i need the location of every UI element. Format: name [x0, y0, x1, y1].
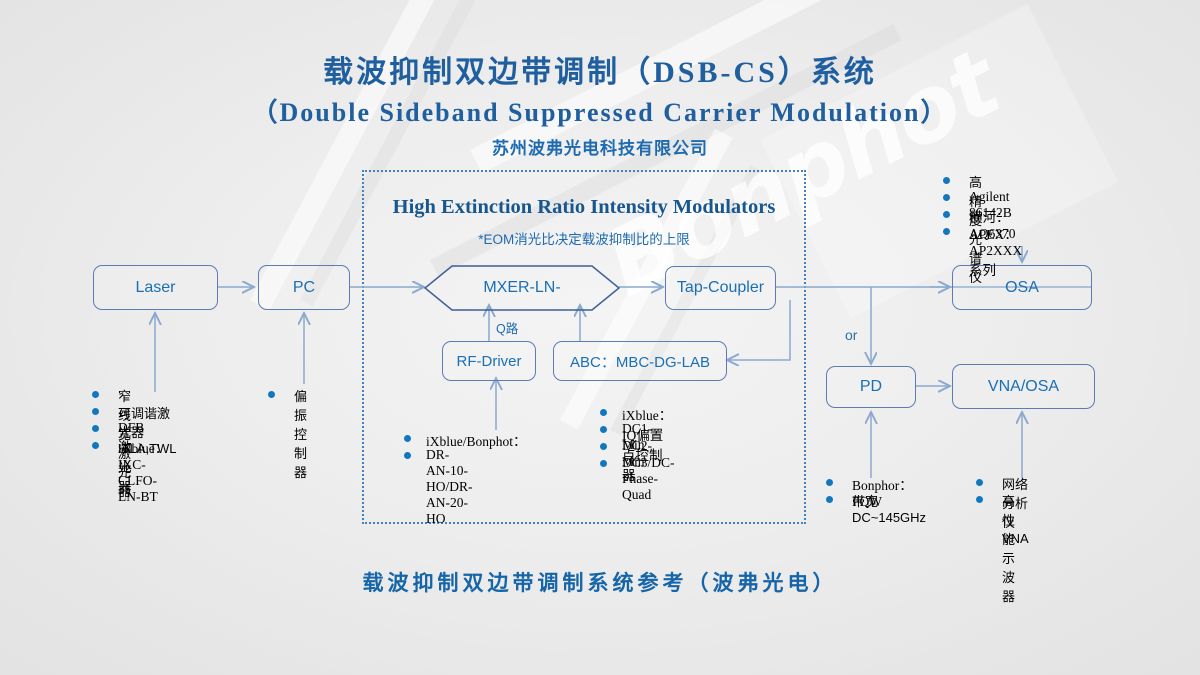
node-pd[interactable]: PD [826, 366, 916, 408]
node-rf-driver[interactable]: RF-Driver [442, 341, 536, 381]
connector-layer [0, 0, 1200, 675]
annotation-item: iXblue：IXC-CLFO-LN-BT [118, 437, 168, 505]
node-mxer[interactable]: MXER-LN- [424, 265, 620, 311]
node-laser[interactable]: Laser [93, 265, 218, 310]
annotation-item: 带宽DC~145GHz [852, 491, 926, 525]
slide-canvas: Bonphot 载波抑制双边带调制（DSB-CS）系统 （Double Side… [0, 0, 1200, 675]
node-vna-osa-label: VNA/OSA [988, 378, 1059, 396]
annotation-item: 高性能示波器 [1002, 491, 1015, 605]
node-abc[interactable]: ABC：MBC-DG-LAB [553, 341, 727, 381]
q-path-label: Q路 [496, 318, 518, 337]
node-pc[interactable]: PC [258, 265, 350, 310]
node-mxer-label: MXER-LN- [483, 279, 560, 297]
annotation-item: 偏振控制器 [294, 386, 307, 481]
annotation-item: DC3/DC-Phase-Quad [622, 455, 675, 503]
node-rf-driver-label: RF-Driver [457, 353, 522, 370]
or-label: or [845, 327, 857, 343]
node-tap-coupler-label: Tap-Coupler [677, 279, 764, 297]
node-pd-label: PD [860, 378, 882, 396]
node-laser-label: Laser [135, 279, 175, 297]
node-osa-label: OSA [1005, 279, 1039, 297]
annotation-item: DR-AN-10-HO/DR-AN-20-HO [426, 447, 473, 527]
node-vna-osa[interactable]: VNA/OSA [952, 364, 1095, 409]
node-tap-coupler[interactable]: Tap-Coupler [665, 266, 776, 310]
annotation-item: APEX：AP2XXX系列 [969, 223, 1022, 279]
node-abc-label: ABC：MBC-DG-LAB [570, 351, 710, 372]
node-pc-label: PC [293, 279, 315, 297]
